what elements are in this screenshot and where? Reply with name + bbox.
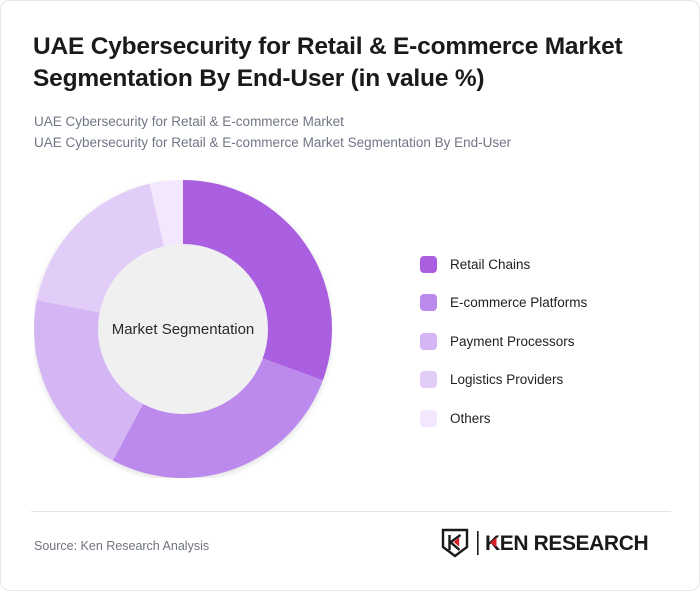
legend-item-label: E-commerce Platforms xyxy=(450,295,587,310)
legend-swatch-icon xyxy=(420,333,437,350)
legend-item-label: Logistics Providers xyxy=(450,372,563,387)
chart-card: UAE Cybersecurity for Retail & E-commerc… xyxy=(0,0,700,591)
svg-text:KEN RESEARCH: KEN RESEARCH xyxy=(485,532,648,555)
legend-swatch-icon xyxy=(420,256,437,273)
legend-swatch-icon xyxy=(420,410,437,427)
footer-divider xyxy=(31,511,671,512)
legend-swatch-icon xyxy=(420,371,437,388)
legend-swatch-icon xyxy=(420,294,437,311)
donut-chart: Market Segmentation xyxy=(34,180,332,478)
subtitle-block: UAE Cybersecurity for Retail & E-commerc… xyxy=(34,111,654,154)
subtitle-line-2: UAE Cybersecurity for Retail & E-commerc… xyxy=(34,132,654,153)
page-title: UAE Cybersecurity for Retail & E-commerc… xyxy=(33,31,653,96)
donut-hole xyxy=(98,244,268,414)
chart-area: Market Segmentation Retail Chains E-comm… xyxy=(1,161,700,501)
legend-item[interactable]: Logistics Providers xyxy=(420,361,670,400)
ken-research-logo: KEN RESEARCH xyxy=(440,528,669,558)
chart-legend: Retail Chains E-commerce Platforms Payme… xyxy=(420,245,670,438)
legend-item[interactable]: Payment Processors xyxy=(420,322,670,361)
subtitle-line-1: UAE Cybersecurity for Retail & E-commerc… xyxy=(34,111,654,132)
ken-shield-icon xyxy=(440,528,470,558)
ken-research-text-icon: KEN RESEARCH xyxy=(477,530,669,556)
ken-research-wordmark: KEN RESEARCH xyxy=(477,530,669,556)
legend-item-label: Payment Processors xyxy=(450,334,575,349)
source-note: Source: Ken Research Analysis xyxy=(34,539,209,553)
donut-svg xyxy=(34,180,332,478)
legend-item[interactable]: Retail Chains xyxy=(420,245,670,284)
legend-item-label: Retail Chains xyxy=(450,257,530,272)
legend-item-label: Others xyxy=(450,411,491,426)
legend-item[interactable]: E-commerce Platforms xyxy=(420,284,670,323)
legend-item[interactable]: Others xyxy=(420,399,670,438)
